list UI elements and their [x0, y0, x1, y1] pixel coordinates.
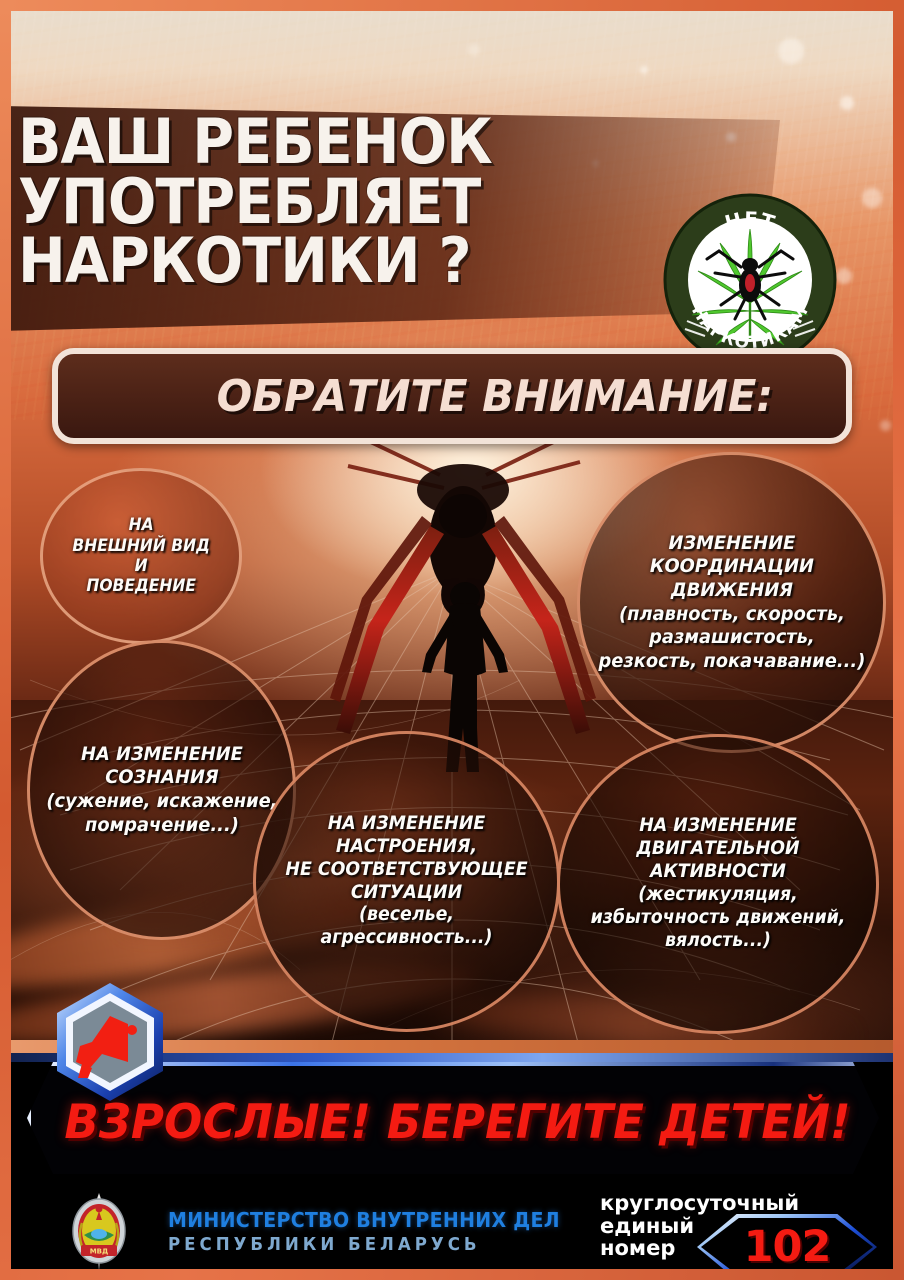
hotline-number: 102 [744, 1222, 831, 1272]
attention-banner-text: ОБРАТИТЕ ВНИМАНИЕ: [217, 371, 774, 422]
emblem-caption: МВД [90, 1248, 109, 1256]
circle-appearance-behaviour: НА ВНЕШНИЙ ВИД И ПОВЕДЕНИЕ [40, 468, 242, 644]
attention-banner: ОБРАТИТЕ ВНИМАНИЕ: [52, 348, 852, 444]
circle-text: НА ИЗМЕНЕНИЕ ДВИГАТЕЛЬНОЙ АКТИВНОСТИ (же… [569, 815, 866, 953]
circle-mood: НА ИЗМЕНЕНИЕ НАСТРОЕНИЯ, НЕ СООТВЕТСТВУЮ… [253, 731, 560, 1032]
megaphone-badge [50, 980, 170, 1104]
circle-coordination: ИЗМЕНЕНИЕ КООРДИНАЦИИ ДВИЖЕНИЯ (плавност… [577, 452, 886, 753]
poster-root: ВАШ РЕБЕНОК УПОТРЕБЛЯЕТ НАРКОТИКИ ? [0, 0, 904, 1280]
circle-text: НА ИЗМЕНЕНИЕ НАСТРОЕНИЯ, НЕ СООТВЕТСТВУЮ… [265, 813, 548, 951]
circle-text: НА ИЗМЕНЕНИЕ СОЗНАНИЯ (сужение, искажени… [40, 743, 282, 837]
svg-text:НЕТ: НЕТ [722, 207, 778, 235]
ministry-line-2: РЕСПУБЛИКИ БЕЛАРУСЬ [168, 1235, 560, 1255]
mvd-emblem: МВД [64, 1191, 134, 1273]
circle-text: НА ВНЕШНИЙ ВИД И ПОВЕДЕНИЕ [67, 515, 216, 597]
hotline-block: круглосуточный единый номер 102 [600, 1192, 890, 1260]
circle-text: ИЗМЕНЕНИЕ КООРДИНАЦИИ ДВИЖЕНИЯ (плавност… [592, 532, 870, 673]
logo-top-word: НЕТ [722, 207, 778, 235]
hotline-number-badge[interactable]: 102 [697, 1214, 877, 1280]
circle-motor-activity: НА ИЗМЕНЕНИЕ ДВИГАТЕЛЬНОЙ АКТИВНОСТИ (же… [557, 734, 879, 1034]
ministry-block: МИНИСТЕРСТВО ВНУТРЕННИХ ДЕЛ РЕСПУБЛИКИ Б… [168, 1208, 580, 1255]
no-drugs-logo: НЕТ НАРКОТИКАМ [663, 193, 837, 367]
ministry-line-1: МИНИСТЕРСТВО ВНУТРЕННИХ ДЕЛ [168, 1208, 560, 1232]
call-to-action-text: ВЗРОСЛЫЕ! БЕРЕГИТЕ ДЕТЕЙ! [64, 1095, 850, 1150]
